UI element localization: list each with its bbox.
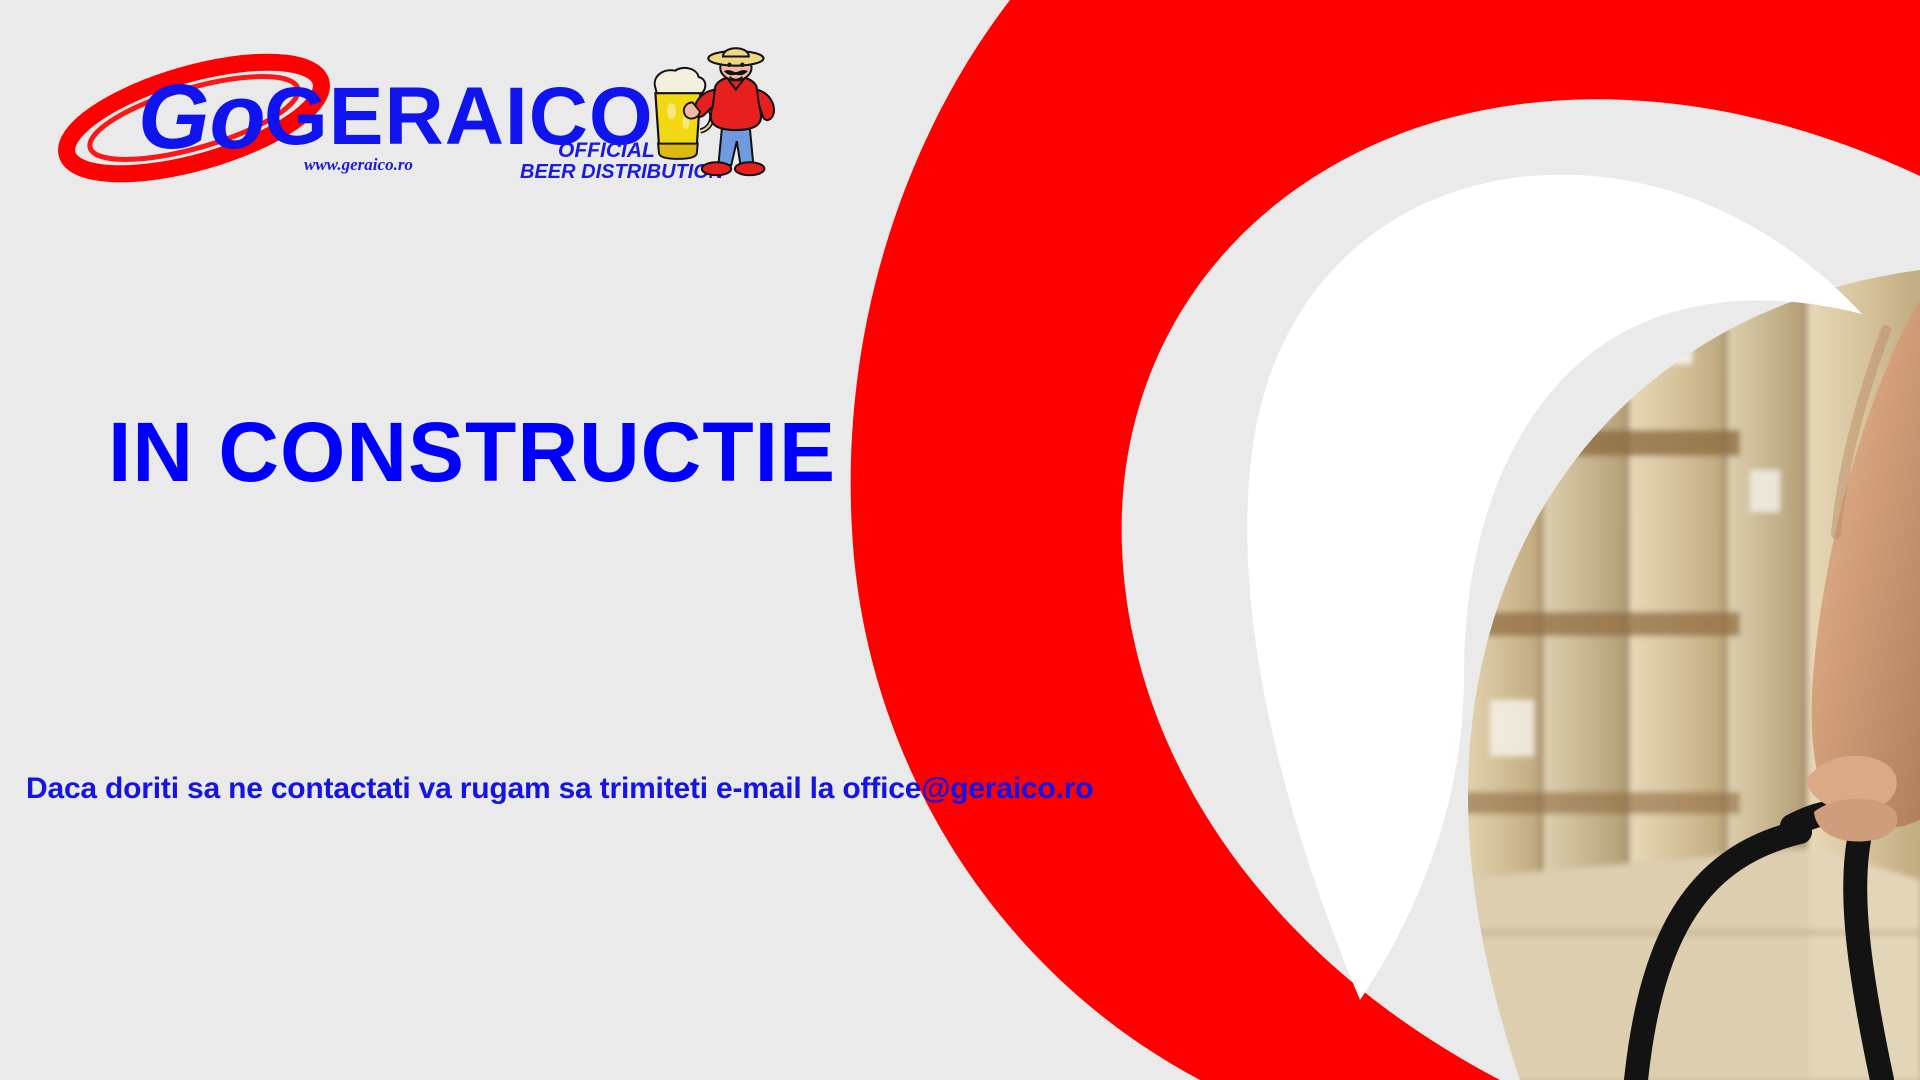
logo-website: www.geraico.ro [304, 155, 413, 174]
worker-hand [1806, 300, 1920, 842]
page-title: IN CONSTRUCTIE [108, 408, 836, 496]
hero-graphic [800, 0, 1920, 1080]
white-teardrop-shape [1247, 175, 1862, 1000]
beer-man-mascot [684, 48, 774, 175]
contact-instruction-text: Daca doriti sa ne contactati va rugam sa… [26, 772, 1093, 806]
logo-tagline-official: OFFICIAL [558, 139, 655, 162]
page-root: Go GERAICO www.geraico.ro OFFICIAL BEER … [0, 0, 1920, 1080]
logo-tagline-beer-distribution: BEER DISTRIBUTION [520, 161, 724, 183]
red-swoosh-shape [851, 0, 1920, 1080]
logo-monogram: Go [138, 66, 266, 168]
brand-logo[interactable]: Go GERAICO www.geraico.ro OFFICIAL BEER … [46, 44, 786, 184]
warehouse-pallet-jack-photo [1420, 250, 1920, 1080]
pallet-jack-handle [1636, 826, 1882, 1080]
